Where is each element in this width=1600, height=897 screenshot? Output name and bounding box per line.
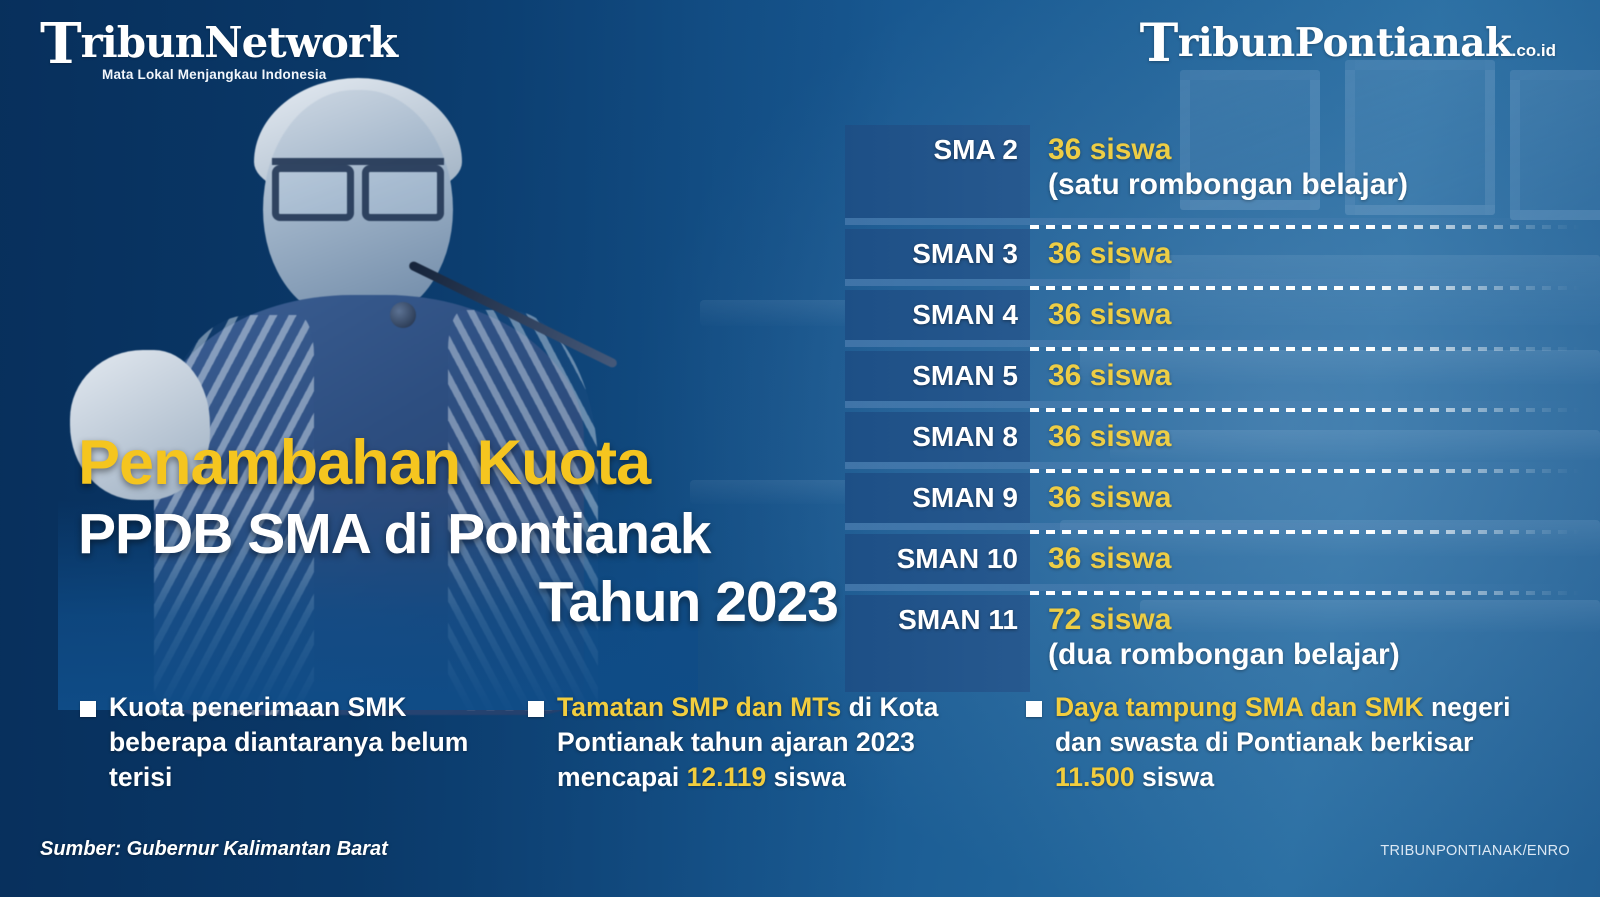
logo-tld: .co.id [1512,41,1556,60]
table-row: SMA 2 36 siswa (satu rombongan belajar) [845,125,1580,218]
tribun-network-tagline: Mata Lokal Menjangkau Indonesia [102,67,397,82]
table-row: SMAN 5 36 siswa [845,351,1580,401]
school-label: SMAN 11 [845,595,1030,692]
quota-value: 36 siswa [1030,412,1580,461]
bullet-text-1: Kuota penerimaan SMK beberapa diantarany… [109,690,500,796]
table-row: SMAN 3 36 siswa [845,229,1580,279]
bullet-2-highlight: Tamatan SMP dan MTs [557,692,841,722]
table-row: SMAN 9 36 siswa [845,473,1580,523]
tribun-pontianak-logo[interactable]: TribunPontianak.co.id [1140,24,1556,63]
bullet-1-body: Kuota penerimaan SMK beberapa diantarany… [109,692,468,792]
logo-word: ribunPontianak [1178,20,1512,66]
bullet-item-2: Tamatan SMP dan MTs di Kota Pontianak ta… [528,690,998,796]
school-label: SMAN 5 [845,351,1030,401]
school-label: SMAN 4 [845,290,1030,340]
table-row: SMAN 11 72 siswa (dua rombongan belajar) [845,595,1580,692]
title-line-3: Tahun 2023 [78,574,838,631]
title-line-2: PPDB SMA di Pontianak [78,506,838,563]
square-bullet-icon [1026,701,1042,717]
row-gap [845,584,1580,591]
quota-number: 36 siswa [1048,541,1580,576]
school-label: SMAN 10 [845,534,1030,584]
title-line-1: Penambahan Kuota [78,432,838,495]
bullet-item-3: Daya tampung SMA dan SMK negeri dan swas… [1026,690,1526,796]
infographic-canvas: TribunNetwork Mata Lokal Menjangkau Indo… [0,0,1600,897]
quota-number: 36 siswa [1048,480,1580,515]
school-label: SMA 2 [845,125,1030,218]
quota-number: 36 siswa [1048,132,1580,167]
quota-number: 72 siswa [1048,602,1580,637]
quota-number: 36 siswa [1048,419,1580,454]
school-label: SMAN 8 [845,412,1030,462]
quota-value: 72 siswa (dua rombongan belajar) [1030,595,1580,679]
logo-word: ribunNetwork [81,18,397,67]
school-label: SMAN 3 [845,229,1030,279]
tribun-network-wordmark: TribunNetwork [40,22,397,64]
bullet-2-tail: siswa [766,762,846,792]
square-bullet-icon [80,701,96,717]
quota-number: 36 siswa [1048,297,1580,332]
bullet-2-number: 12.119 [687,762,767,792]
quota-number: 36 siswa [1048,236,1580,271]
square-bullet-icon [528,701,544,717]
quota-value: 36 siswa (satu rombongan belajar) [1030,125,1580,209]
quota-note: (dua rombongan belajar) [1048,637,1580,672]
bullet-text-2: Tamatan SMP dan MTs di Kota Pontianak ta… [557,690,998,796]
quota-table: SMA 2 36 siswa (satu rombongan belajar) … [845,125,1580,692]
table-row: SMAN 10 36 siswa [845,534,1580,584]
quota-value: 36 siswa [1030,534,1580,583]
quota-value: 36 siswa [1030,229,1580,278]
bullet-item-1: Kuota penerimaan SMK beberapa diantarany… [80,690,500,796]
school-label: SMAN 9 [845,473,1030,523]
row-gap [845,401,1580,408]
row-gap [845,279,1580,286]
quota-value: 36 siswa [1030,290,1580,339]
bullet-3-tail: siswa [1135,762,1215,792]
bullet-3-number: 11.500 [1055,762,1135,792]
page-title: Penambahan Kuota PPDB SMA di Pontianak T… [78,432,838,631]
row-gap [845,340,1580,347]
microphone-icon [408,260,619,369]
logo-dropcap: T [40,11,81,77]
table-row: SMAN 4 36 siswa [845,290,1580,340]
fact-bullets: Kuota penerimaan SMK beberapa diantarany… [80,690,1540,796]
logo-dropcap: T [1140,13,1178,74]
row-gap [845,462,1580,469]
eyeglasses-icon [272,158,444,202]
source-attribution: Sumber: Gubernur Kalimantan Barat [40,838,388,861]
bullet-3-highlight: Daya tampung SMA dan SMK [1055,692,1424,722]
quota-note: (satu rombongan belajar) [1048,167,1580,202]
quota-value: 36 siswa [1030,351,1580,400]
bullet-text-3: Daya tampung SMA dan SMK negeri dan swas… [1055,690,1526,796]
photo-credit: TRIBUNPONTIANAK/ENRO [1380,843,1570,859]
row-gap [845,218,1580,225]
quota-number: 36 siswa [1048,358,1580,393]
tribun-network-logo[interactable]: TribunNetwork Mata Lokal Menjangkau Indo… [40,22,397,82]
row-gap [845,523,1580,530]
quota-value: 36 siswa [1030,473,1580,522]
table-row: SMAN 8 36 siswa [845,412,1580,462]
